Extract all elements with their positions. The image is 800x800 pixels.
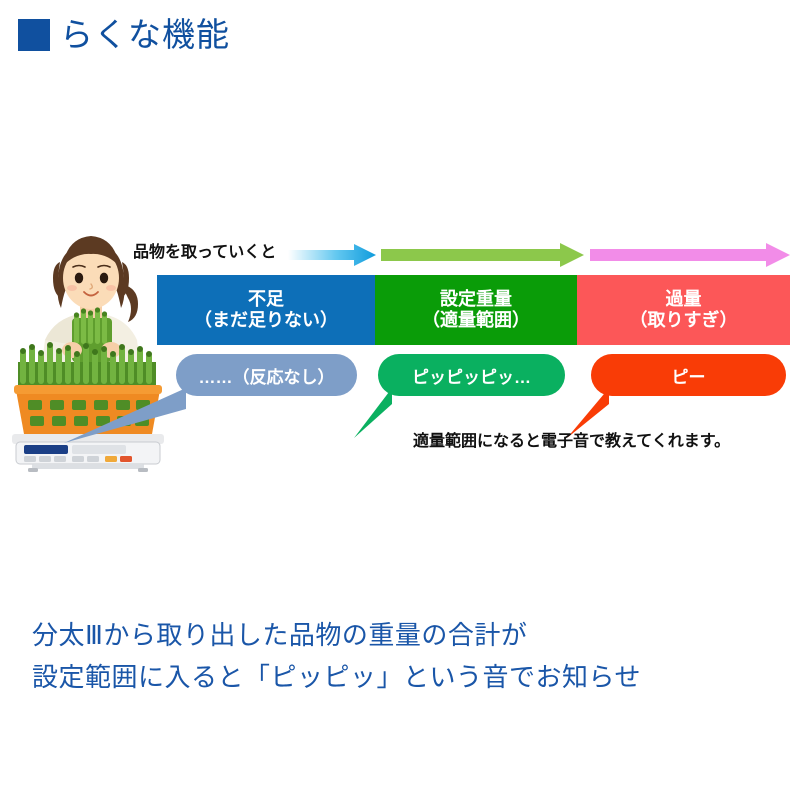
weight-range-bar: 不足 （まだ足りない） 設定重量 （適量範囲） 過量 （取りすぎ）	[157, 275, 790, 345]
footer-message-line2: 設定範囲に入ると「ピッピッ」という音でお知らせ	[32, 656, 641, 698]
segment-overweight-line1: 過量	[666, 289, 702, 310]
segment-overweight-line2: （取りすぎ）	[630, 310, 738, 331]
segment-shortage-line2: （まだ足りない）	[194, 310, 338, 331]
no-response-bubble: ……（反応なし）	[176, 354, 357, 396]
segment-shortage-line1: 不足	[248, 289, 284, 310]
no-response-bubble-tail	[60, 385, 186, 447]
range-segment-overweight: 過量 （取りすぎ）	[577, 275, 790, 345]
progress-arrows	[288, 241, 790, 269]
blue-square-bullet-icon	[18, 19, 50, 51]
page-title: らくな機能	[18, 18, 230, 51]
beep-beep-bubble-text: ピッピッピッ…	[412, 363, 531, 388]
segment-set-weight-line2: （適量範囲）	[422, 310, 530, 331]
slide-canvas: らくな機能	[0, 0, 800, 800]
diagram-caption: 適量範囲になると電子音で教えてくれます。	[413, 427, 730, 451]
segment-set-weight-line1: 設定重量	[440, 289, 512, 310]
beep-beep-bubble: ピッピッピッ…	[378, 354, 565, 396]
range-segment-shortage: 不足 （まだ足りない）	[157, 275, 375, 345]
range-segment-set-weight: 設定重量 （適量範囲）	[375, 275, 577, 345]
footer-message: 分太Ⅲから取り出した品物の重量の合計が 設定範囲に入ると「ピッピッ」という音でお…	[32, 614, 641, 698]
overweight-arrow	[590, 243, 790, 267]
ok-range-arrow	[381, 243, 584, 267]
footer-message-line1: 分太Ⅲから取り出した品物の重量の合計が	[32, 614, 641, 656]
no-response-bubble-text: ……（反応なし）	[199, 363, 335, 388]
flow-direction-label: 品物を取っていくと	[133, 238, 276, 262]
long-beep-bubble: ピー	[591, 354, 786, 396]
page-title-text: らくな機能	[60, 18, 230, 51]
shortage-arrow	[288, 244, 376, 266]
long-beep-bubble-text: ピー	[672, 363, 706, 388]
beep-beep-bubble-tail	[352, 388, 392, 440]
